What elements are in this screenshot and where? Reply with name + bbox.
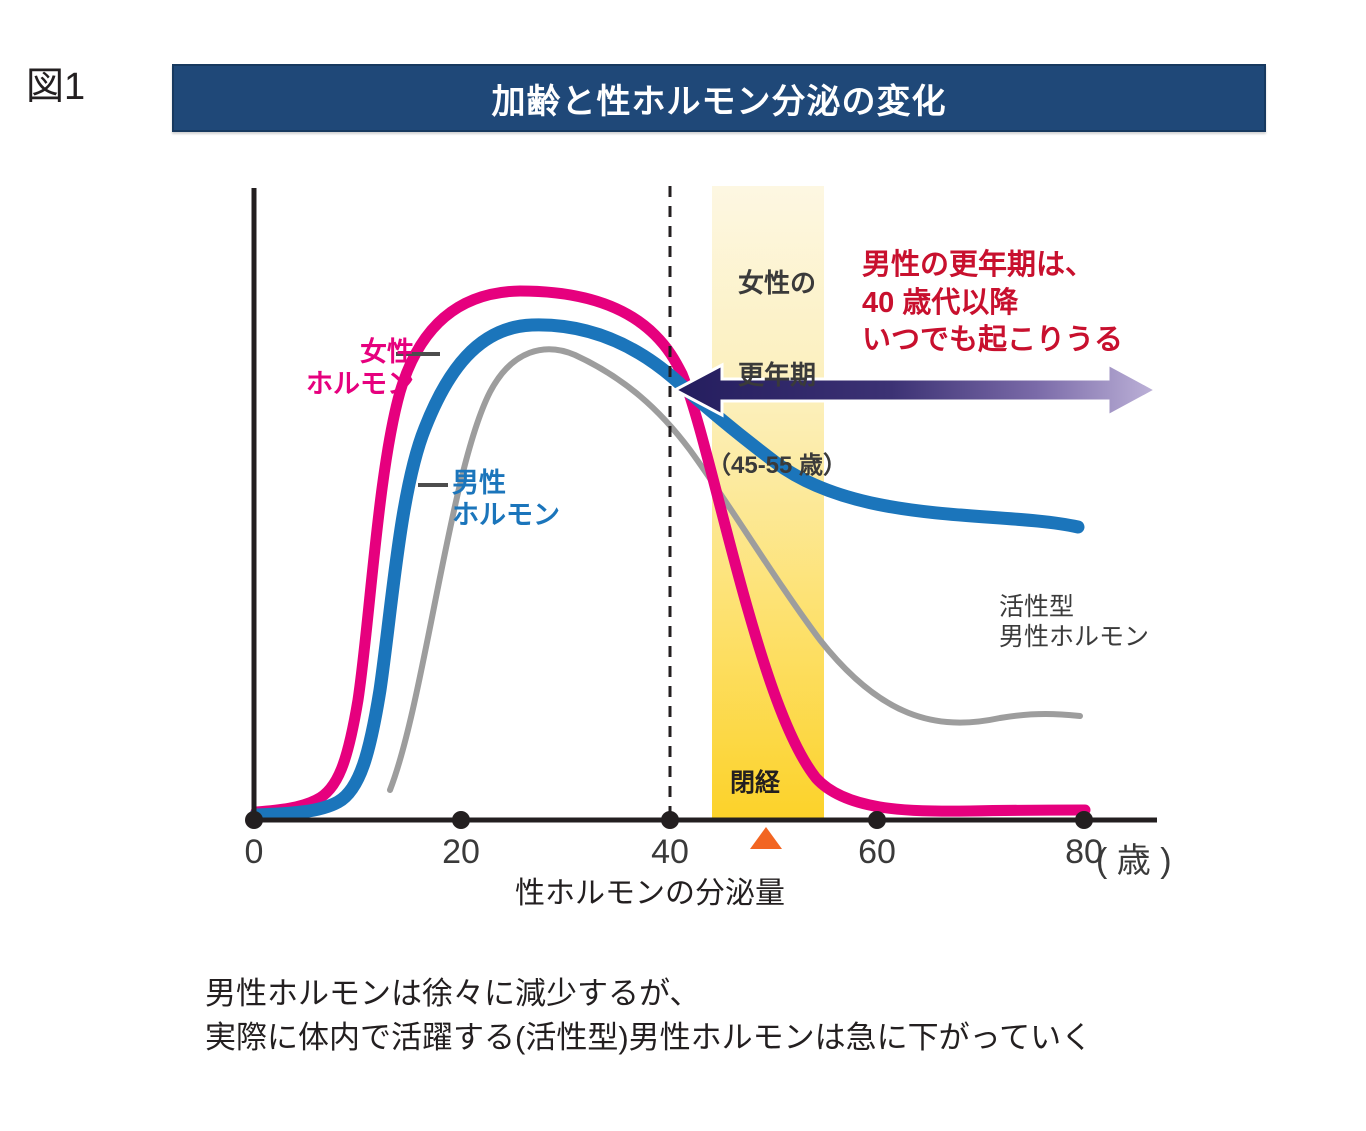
female-menopause-line2: 更年期 (707, 360, 847, 391)
x-tick-label-60: 60 (832, 833, 922, 872)
male-menopause-annotation: 男性の更年期は、 40 歳代以降 いつでも起こりうる (862, 247, 1123, 360)
x-tick-dot-20 (452, 811, 470, 829)
x-axis-title: 性ホルモンの分泌量 (430, 868, 870, 912)
series-label-active-male-hormone: 活性型 男性ホルモン (999, 593, 1149, 652)
female-menopause-line1: 女性の (707, 268, 847, 299)
series-label-female-hormone: 女性 ホルモン (266, 337, 414, 401)
x-tick-label-20: 20 (416, 833, 506, 872)
menopause-band-label: 閉経 (730, 769, 780, 799)
x-tick-label-0: 0 (209, 833, 299, 872)
series-label-male-hormone: 男性 ホルモン (452, 468, 560, 532)
x-tick-dot-0 (245, 811, 263, 829)
x-tick-dot-80 (1075, 811, 1093, 829)
figure-root: 図1 加齢と性ホルモン分泌の変化 (0, 0, 1366, 1131)
x-axis-unit-label: ( 歳 ) (1096, 833, 1216, 882)
female-menopause-annotation: 女性の 更年期 （45-55 歳） (707, 207, 847, 542)
chart-plot-area (0, 0, 1366, 1131)
female-menopause-age-range: （45-55 歳） (707, 452, 847, 480)
menopause-triangle-icon (750, 827, 782, 849)
x-tick-dot-40 (661, 811, 679, 829)
x-tick-dot-60 (868, 811, 886, 829)
x-tick-label-40: 40 (625, 833, 715, 872)
figure-caption: 男性ホルモンは徐々に減少するが、 実際に体内で活躍する(活性型)男性ホルモンは急… (205, 972, 1092, 1060)
